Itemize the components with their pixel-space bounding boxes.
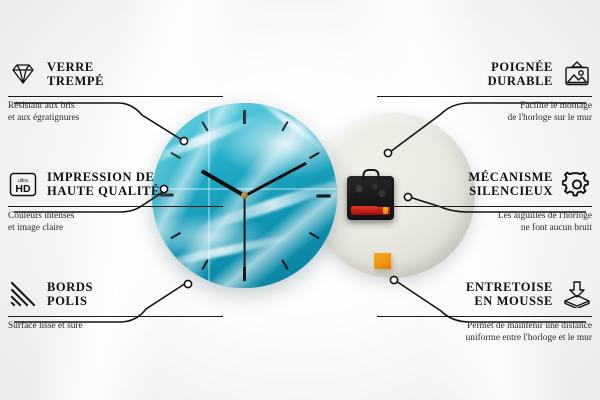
feature-title: BORDS POLIS [47,280,93,308]
gear-icon [562,169,592,199]
feature-header: VERRE TREMPÉ [8,56,223,92]
feature-title: VERRE TREMPÉ [47,60,104,88]
feature-header: MÉCANISME SILENCIEUX [377,166,592,202]
feature-title: POIGNÉE DURABLE [488,60,553,88]
feature-bords-polis: BORDS POLIS Surface lisse et sûre [8,276,223,333]
feature-header: ultra HD IMPRESSION DE HAUTE QUALITÉ [8,166,223,202]
infographic-canvas: VERRE TREMPÉ Résistant aux bris et aux é… [0,0,600,400]
feature-description: Les aiguilles de l'horloge ne font aucun… [377,211,592,234]
feature-divider [8,316,223,317]
feature-description: Couleurs intenses et image claire [8,211,223,234]
feature-header: ENTRETOISE EN MOUSSE [377,276,592,312]
polished-edge-icon [8,279,38,309]
feature-entretoise-en-mousse: ENTRETOISE EN MOUSSE Permet de maintenir… [377,276,592,344]
feature-divider [8,206,223,207]
foam-spacer-icon [562,279,592,309]
feature-impression-haute-qualite: ultra HD IMPRESSION DE HAUTE QUALITÉ Cou… [8,166,223,234]
feature-description: Résistant aux bris et aux égratignures [8,101,223,124]
hanging-frame-icon [562,59,592,89]
feature-verre-trempe: VERRE TREMPÉ Résistant aux bris et aux é… [8,56,223,124]
feature-title: MÉCANISME SILENCIEUX [468,170,553,198]
feature-title: IMPRESSION DE HAUTE QUALITÉ [47,170,160,198]
feature-divider [8,96,223,97]
feature-header: POIGNÉE DURABLE [377,56,592,92]
foam-spacer [374,253,391,269]
feature-divider [377,96,592,97]
feature-divider [377,316,592,317]
feature-description: Facilite le montage de l'horloge sur le … [377,101,592,124]
ultra-hd-icon: ultra HD [8,169,38,199]
diamond-icon [8,59,38,89]
feature-title: ENTRETOISE EN MOUSSE [466,280,553,308]
feature-mecanisme-silencieux: MÉCANISME SILENCIEUX Les aiguilles de l'… [377,166,592,234]
feature-description: Surface lisse et sûre [8,321,223,333]
feature-description: Permet de maintenir une distance uniform… [377,321,592,344]
feature-divider [377,206,592,207]
feature-poignee-durable: POIGNÉE DURABLE Facilite le montage de l… [377,56,592,124]
feature-header: BORDS POLIS [8,276,223,312]
svg-text:HD: HD [15,183,31,195]
